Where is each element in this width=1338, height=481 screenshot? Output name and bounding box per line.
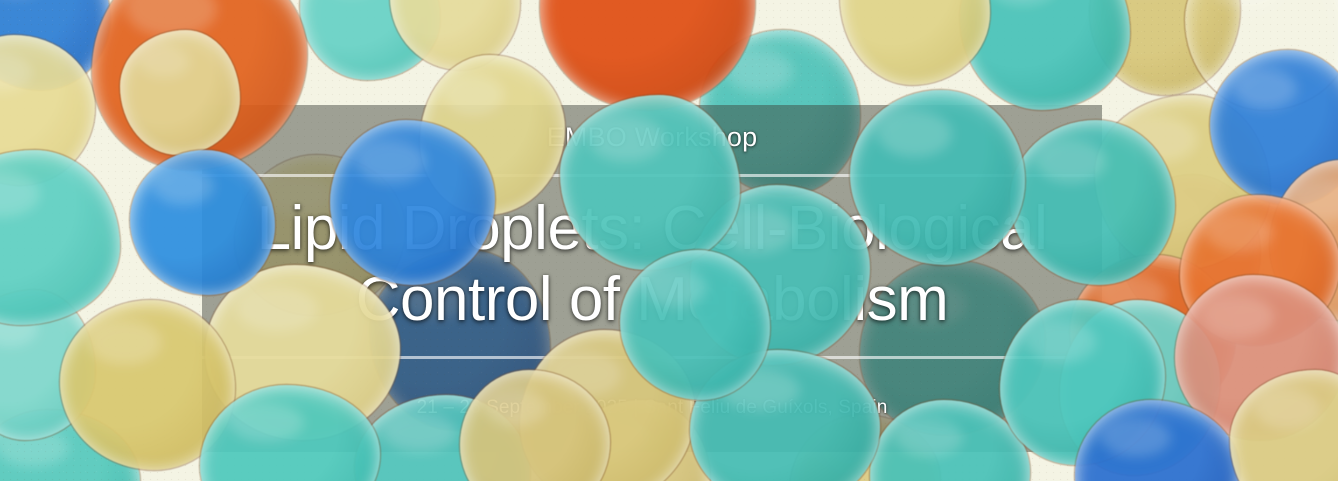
event-banner: EMBO Workshop Lipid Droplets: Cell-Biolo…: [0, 0, 1338, 481]
photo-droplet: [560, 95, 740, 270]
photo-droplet: [130, 150, 275, 295]
photo-droplet: [330, 120, 495, 285]
photo-droplet: [0, 150, 120, 325]
background-photo: [0, 0, 1338, 481]
photo-droplet: [120, 30, 240, 155]
photo-droplet: [840, 0, 990, 85]
